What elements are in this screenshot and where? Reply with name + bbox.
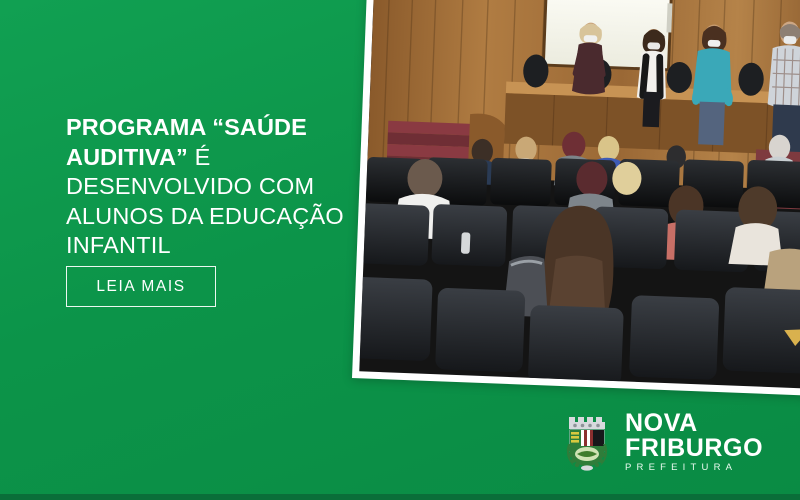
auditorium-photo — [359, 0, 800, 389]
auditorium-photo-frame — [352, 0, 800, 396]
leia-mais-button-label: LEIA MAIS — [96, 278, 185, 296]
pale-stripes — [581, 430, 593, 446]
logo-line-prefeitura: PREFEITURA — [625, 463, 763, 472]
logo-line-friburgo: FRIBURGO — [625, 436, 763, 461]
mural-crown-icon — [569, 417, 605, 429]
nova-friburgo-logo[interactable]: NOVA FRIBURGO PREFEITURA — [560, 411, 763, 472]
logo-line-nova: NOVA — [625, 411, 763, 436]
crest-svg — [560, 413, 614, 471]
auditorium-illustration — [359, 0, 800, 389]
page-title: PROGRAMA “SAÚDE AUDITIVA” É DESENVOLVIDO… — [66, 113, 366, 261]
bottom-accent-bar — [0, 494, 800, 500]
headline-bold: PROGRAMA “SAÚDE AUDITIVA” — [66, 114, 307, 170]
logo-wordmark: NOVA FRIBURGO PREFEITURA — [625, 411, 763, 472]
coat-of-arms-icon — [560, 413, 614, 471]
leia-mais-button[interactable]: LEIA MAIS — [66, 266, 216, 307]
news-banner: PROGRAMA “SAÚDE AUDITIVA” É DESENVOLVIDO… — [0, 0, 800, 500]
